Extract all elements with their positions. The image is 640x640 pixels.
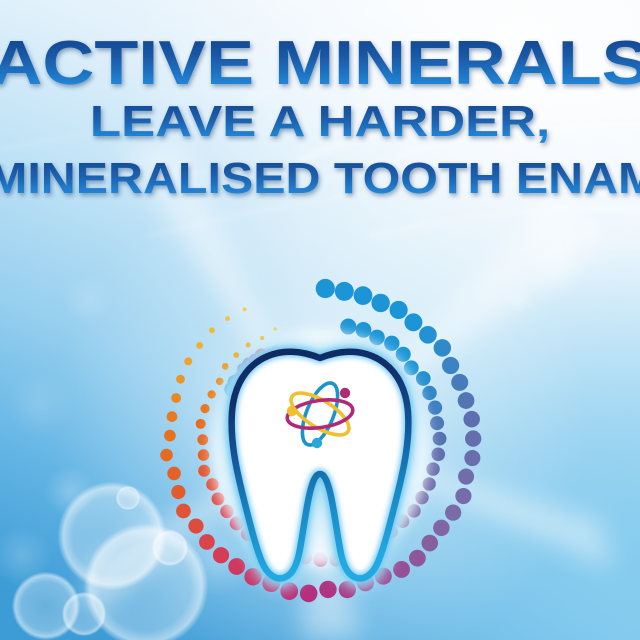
ring-dot (396, 347, 411, 362)
atom-electron-magenta (340, 388, 350, 398)
ring-dot (160, 449, 173, 462)
ring-dot (431, 447, 445, 461)
ring-dot (216, 378, 224, 386)
ring-dot (167, 467, 181, 481)
ring-dot (464, 450, 480, 466)
ring-dot (421, 535, 438, 552)
ring-dot (458, 392, 475, 409)
ring-dot (426, 462, 439, 475)
ring-dot (171, 485, 185, 499)
ring-dot (356, 322, 372, 338)
ring-dot (260, 336, 264, 340)
ring-dot (233, 352, 239, 358)
ring-dot (196, 419, 206, 429)
ring-dot (458, 469, 474, 485)
ring-dot (207, 390, 215, 398)
ring-dot (371, 294, 389, 312)
ring-dot (300, 585, 318, 603)
ring-dot (274, 327, 277, 330)
ring-dot (384, 336, 399, 351)
ring-dot (433, 432, 447, 446)
ring-dot (319, 581, 336, 598)
ring-dot (164, 430, 176, 442)
ring-dot (393, 561, 410, 578)
atom-electron-yellow (287, 406, 297, 416)
ring-dot (442, 357, 459, 374)
ring-dot (176, 375, 185, 384)
atom-electron-cyan (312, 438, 322, 448)
ring-dot (340, 319, 356, 335)
tooth-graphic-layer (0, 0, 640, 640)
ring-dot (451, 374, 468, 391)
ring-dot (198, 449, 210, 461)
ring-dot (463, 411, 480, 428)
ring-dot (354, 286, 373, 305)
ring-dot (316, 279, 335, 298)
ring-dot (390, 301, 408, 319)
ring-dot (171, 393, 181, 403)
ring-dot (422, 386, 436, 400)
ring-dot (416, 371, 431, 386)
ring-dot (184, 357, 192, 365)
ring-dot (369, 330, 385, 346)
ring-dot (445, 505, 461, 521)
promo-graphic-canvas: ACTIVE MINERALS LEAVE A HARDER, REMINERA… (0, 0, 640, 640)
ring-dot (198, 465, 210, 477)
ring-dot (188, 518, 203, 533)
ring-dot (433, 520, 449, 536)
ring-dot (434, 339, 451, 356)
ring-dot (428, 400, 442, 414)
ring-dot (213, 547, 229, 563)
ring-dot (228, 558, 245, 575)
ring-dot (200, 404, 209, 413)
ring-dot (167, 411, 178, 422)
ring-dot (243, 307, 247, 311)
ring-dot (455, 488, 471, 504)
ring-dot (419, 326, 437, 344)
ring-dot (176, 504, 191, 519)
ring-dot (196, 342, 203, 349)
ring-dot (465, 430, 481, 446)
ring-dot (199, 534, 215, 550)
ring-dot (222, 363, 229, 370)
ring-dot (430, 416, 444, 430)
ring-dot (409, 550, 426, 567)
ring-dot (225, 316, 230, 321)
ring-dot (404, 313, 422, 331)
ring-dot (246, 342, 251, 347)
ring-dot (197, 434, 208, 445)
ring-dot (335, 282, 354, 301)
ring-dot (209, 327, 215, 333)
